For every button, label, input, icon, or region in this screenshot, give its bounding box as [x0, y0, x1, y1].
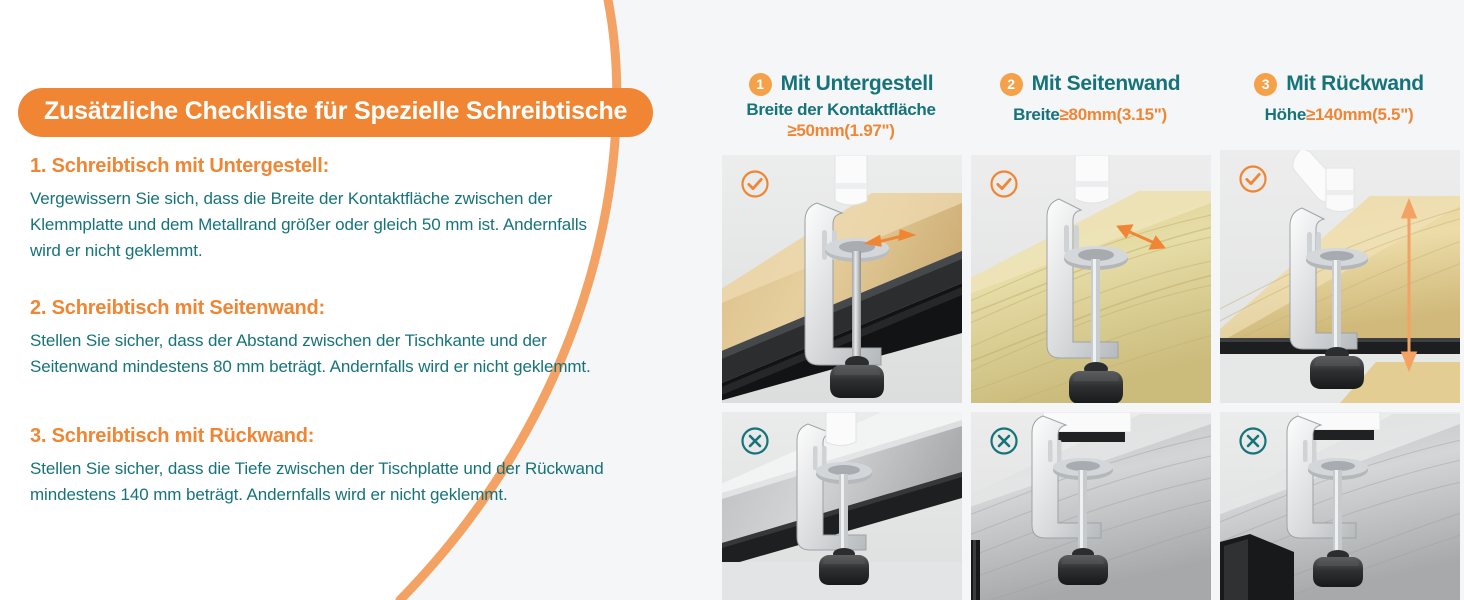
cross-icon: [989, 426, 1019, 456]
cell-2-good: [971, 155, 1211, 403]
section-1-heading: 1. Schreibtisch mit Untergestell:: [30, 155, 605, 178]
column-3-subtitle-value: ≥140mm(5.5"): [1306, 105, 1413, 124]
cross-icon: [1238, 426, 1268, 456]
section-3: 3. Schreibtisch mit Rückwand: Stellen Si…: [30, 425, 605, 508]
number-badge-2: 2: [1000, 73, 1023, 96]
cell-3-bad: [1220, 412, 1460, 600]
column-2-subtitle: Breite≥80mm(3.15"): [967, 105, 1213, 126]
column-untergestell: 1 Mit Untergestell Breite der Kontaktflä…: [718, 0, 964, 600]
column-2-subtitle-value: ≥80mm(3.15"): [1060, 105, 1167, 124]
column-seitenwand: 2 Mit Seitenwand Breite≥80mm(3.15"): [967, 0, 1213, 600]
section-2-body: Stellen Sie sicher, dass der Abstand zwi…: [30, 328, 605, 380]
section-1: 1. Schreibtisch mit Untergestell: Vergew…: [30, 155, 605, 263]
section-1-body: Vergewissern Sie sich, dass die Breite d…: [30, 186, 605, 263]
column-3-subtitle: Höhe≥140mm(5.5"): [1216, 105, 1462, 126]
page-title: Zusätzliche Checkliste für Spezielle Sch…: [18, 88, 653, 137]
comparison-grid: 1 Mit Untergestell Breite der Kontaktflä…: [718, 0, 1464, 600]
column-3-subtitle-label: Höhe: [1265, 105, 1306, 124]
column-1-subtitle-value: ≥50mm(1.97"): [787, 121, 894, 140]
check-icon: [989, 169, 1019, 199]
left-text-panel: Zusätzliche Checkliste für Spezielle Sch…: [0, 0, 700, 600]
column-2-title: Mit Seitenwand: [1032, 72, 1181, 96]
section-3-heading: 3. Schreibtisch mit Rückwand:: [30, 425, 605, 448]
number-badge-3: 3: [1254, 73, 1277, 96]
column-2-subtitle-label: Breite: [1013, 105, 1059, 124]
section-2-heading: 2. Schreibtisch mit Seitenwand:: [30, 297, 605, 320]
column-1-subtitle-label: Breite der Kontaktfläche: [746, 100, 935, 119]
column-1-title: Mit Untergestell: [781, 72, 934, 96]
number-badge-1: 1: [749, 73, 772, 96]
check-icon: [740, 169, 770, 199]
column-3-title: Mit Rückwand: [1286, 72, 1424, 96]
section-2: 2. Schreibtisch mit Seitenwand: Stellen …: [30, 297, 605, 380]
column-3-header: 3 Mit Rückwand Höhe≥140mm(5.5"): [1216, 72, 1462, 126]
section-3-body: Stellen Sie sicher, dass die Tiefe zwisc…: [30, 456, 605, 508]
infographic-page: Zusätzliche Checkliste für Spezielle Sch…: [0, 0, 1464, 600]
column-1-subtitle: Breite der Kontaktfläche ≥50mm(1.97"): [718, 100, 964, 141]
cross-icon: [740, 426, 770, 456]
column-2-header: 2 Mit Seitenwand Breite≥80mm(3.15"): [967, 72, 1213, 126]
cell-1-bad: [722, 412, 962, 600]
cell-1-good: [722, 155, 962, 403]
column-rueckwand: 3 Mit Rückwand Höhe≥140mm(5.5"): [1216, 0, 1462, 600]
cell-2-bad: [971, 412, 1211, 600]
column-1-header: 1 Mit Untergestell Breite der Kontaktflä…: [718, 72, 964, 141]
cell-3-good: [1220, 150, 1460, 403]
check-icon: [1238, 164, 1268, 194]
